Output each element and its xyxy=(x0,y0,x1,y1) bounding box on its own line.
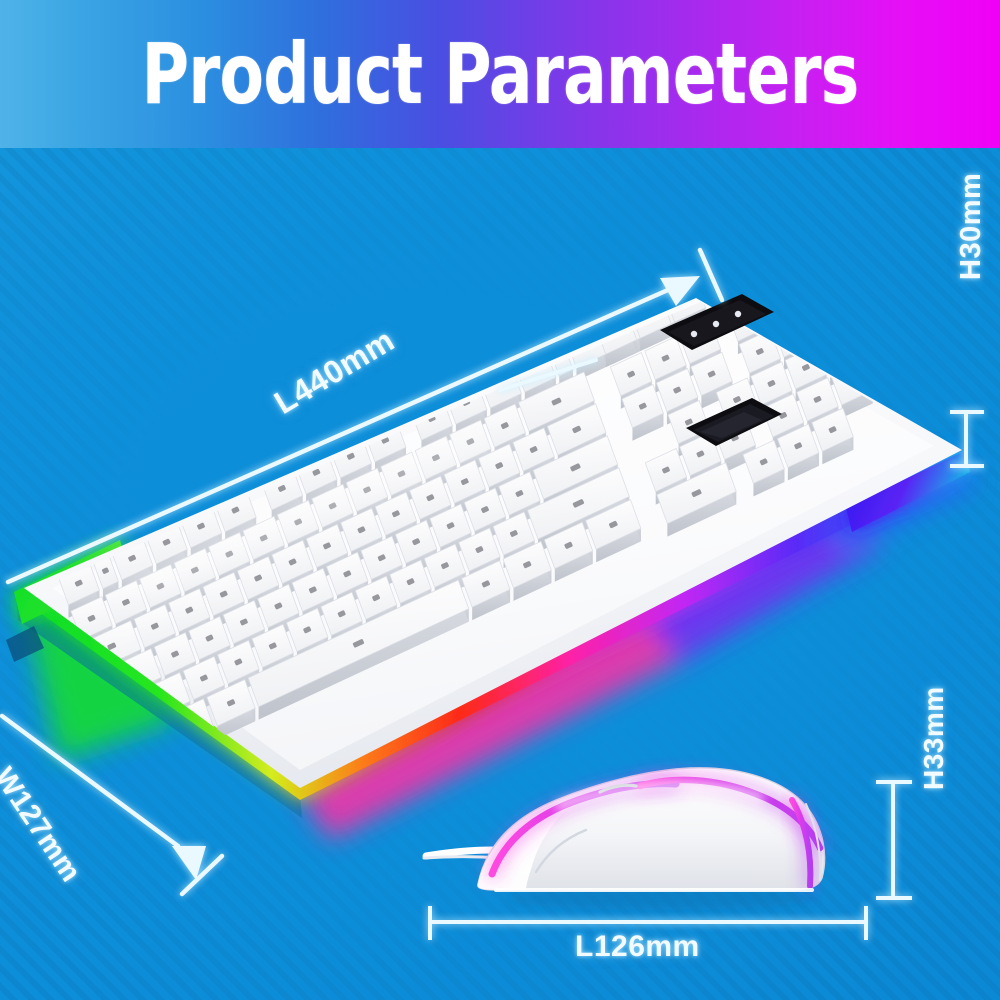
gaming-mouse xyxy=(424,768,825,910)
dimension-label-mouse-length: L126mm xyxy=(575,930,700,964)
gaming-keyboard xyxy=(6,208,975,840)
mouse-cable xyxy=(426,850,492,856)
product-artwork xyxy=(0,0,1000,1000)
product-parameters-image: Product Parameters xyxy=(0,0,1000,1000)
dimension-line-mouse-height xyxy=(876,782,912,898)
dimension-label-keyboard-height: H30mm xyxy=(955,173,988,280)
dimension-label-mouse-height: H33mm xyxy=(918,686,950,790)
